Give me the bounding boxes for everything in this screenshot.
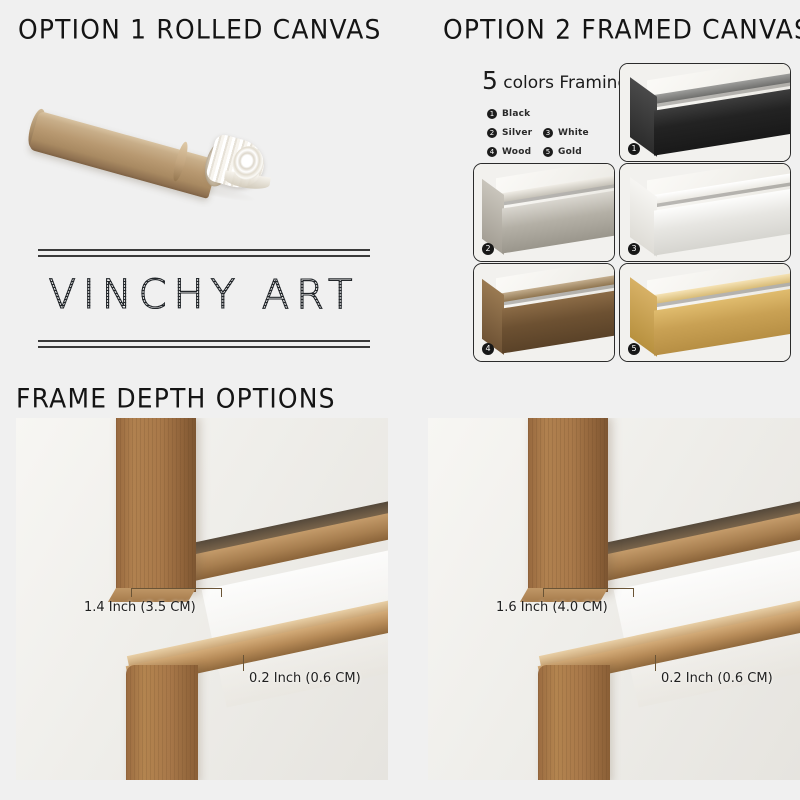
legend-item-wood: 4 Wood xyxy=(487,147,543,157)
logo-rule-top-outer xyxy=(38,249,370,251)
dimension-label-right-depth: 1.6 Inch (4.0 CM) xyxy=(496,600,608,615)
frame-swatch-white[interactable]: 3 xyxy=(619,163,791,262)
frame-lower-block xyxy=(538,665,610,780)
logo-rule-top-inner xyxy=(38,255,370,257)
option2-heading: OPTION 2 FRAMED CANVAS xyxy=(443,14,800,45)
dimension-tick-left-thickness xyxy=(243,655,244,671)
frame-swatch-gold[interactable]: 5 xyxy=(619,263,791,362)
swatch-number-badge: 1 xyxy=(628,143,640,155)
legend-label: Silver xyxy=(502,128,532,138)
framing-colors-count: 5 xyxy=(482,66,498,95)
tube-illustration xyxy=(28,62,283,192)
legend-bullet-icon: 5 xyxy=(543,147,553,157)
legend-bullet-icon: 1 xyxy=(487,109,497,119)
legend-bullet-icon: 2 xyxy=(487,128,497,138)
legend-row: 2 Silver 3 White xyxy=(487,127,607,139)
frame-lower-block xyxy=(126,665,198,780)
dimension-label-right-thickness: 0.2 Inch (0.6 CM) xyxy=(661,671,773,686)
logo-rule-bottom-inner xyxy=(38,340,370,342)
legend-item-gold: 5 Gold xyxy=(543,147,599,157)
swatch-number-badge: 4 xyxy=(482,343,494,355)
frame-swatch-black[interactable]: 1 xyxy=(619,63,791,162)
option1-heading: OPTION 1 ROLLED CANVAS xyxy=(18,14,382,45)
swatch-number-badge: 2 xyxy=(482,243,494,255)
dimension-bracket-right-depth xyxy=(543,588,634,597)
legend-item-white: 3 White xyxy=(543,128,599,138)
brand-logo: VINCHY ART xyxy=(38,248,370,352)
legend-label: Black xyxy=(502,109,530,119)
frame-swatch-photo xyxy=(620,264,790,361)
swatch-number-badge: 5 xyxy=(628,343,640,355)
frame-swatch-silver[interactable]: 2 xyxy=(473,163,615,262)
legend-label: Gold xyxy=(558,147,582,157)
logo-rule-bottom-outer xyxy=(38,346,370,348)
legend-bullet-icon: 3 xyxy=(543,128,553,138)
frame-vertical-bar xyxy=(116,418,196,592)
legend-label: White xyxy=(558,128,589,138)
frame-swatch-wood[interactable]: 4 xyxy=(473,263,615,362)
legend-row: 1 Black xyxy=(487,108,607,120)
frame-swatch-photo xyxy=(620,164,790,261)
dimension-label-left-depth: 1.4 Inch (3.5 CM) xyxy=(84,600,196,615)
legend-bullet-icon: 4 xyxy=(487,147,497,157)
legend-row: 4 Wood 5 Gold xyxy=(487,146,607,158)
framing-colors-label: colors Framing xyxy=(498,73,628,93)
frame-depth-heading: FRAME DEPTH OPTIONS xyxy=(16,383,336,414)
frame-depth-photo-right xyxy=(428,418,800,780)
frame-vertical-bar xyxy=(528,418,608,592)
dimension-bracket-left-depth xyxy=(131,588,222,597)
frame-depth-photo-left xyxy=(16,418,388,780)
swatch-number-badge: 3 xyxy=(628,243,640,255)
dimension-tick-right-thickness xyxy=(655,655,656,671)
frame-swatch-photo xyxy=(474,264,614,361)
legend-label: Wood xyxy=(502,147,531,157)
frame-swatch-photo xyxy=(474,164,614,261)
rolled-canvas-tube-photo xyxy=(28,62,283,192)
brand-logo-text: VINCHY ART xyxy=(38,272,370,318)
dimension-label-left-thickness: 0.2 Inch (0.6 CM) xyxy=(249,671,361,686)
legend-item-black: 1 Black xyxy=(487,109,543,119)
framing-colors-title: 5 colors Framing xyxy=(482,66,628,95)
frame-swatch-photo xyxy=(620,64,790,161)
legend-item-silver: 2 Silver xyxy=(487,128,543,138)
tube-body xyxy=(29,111,219,199)
frame-color-legend: 1 Black 2 Silver 3 White 4 Wood 5 Gold xyxy=(487,108,607,165)
